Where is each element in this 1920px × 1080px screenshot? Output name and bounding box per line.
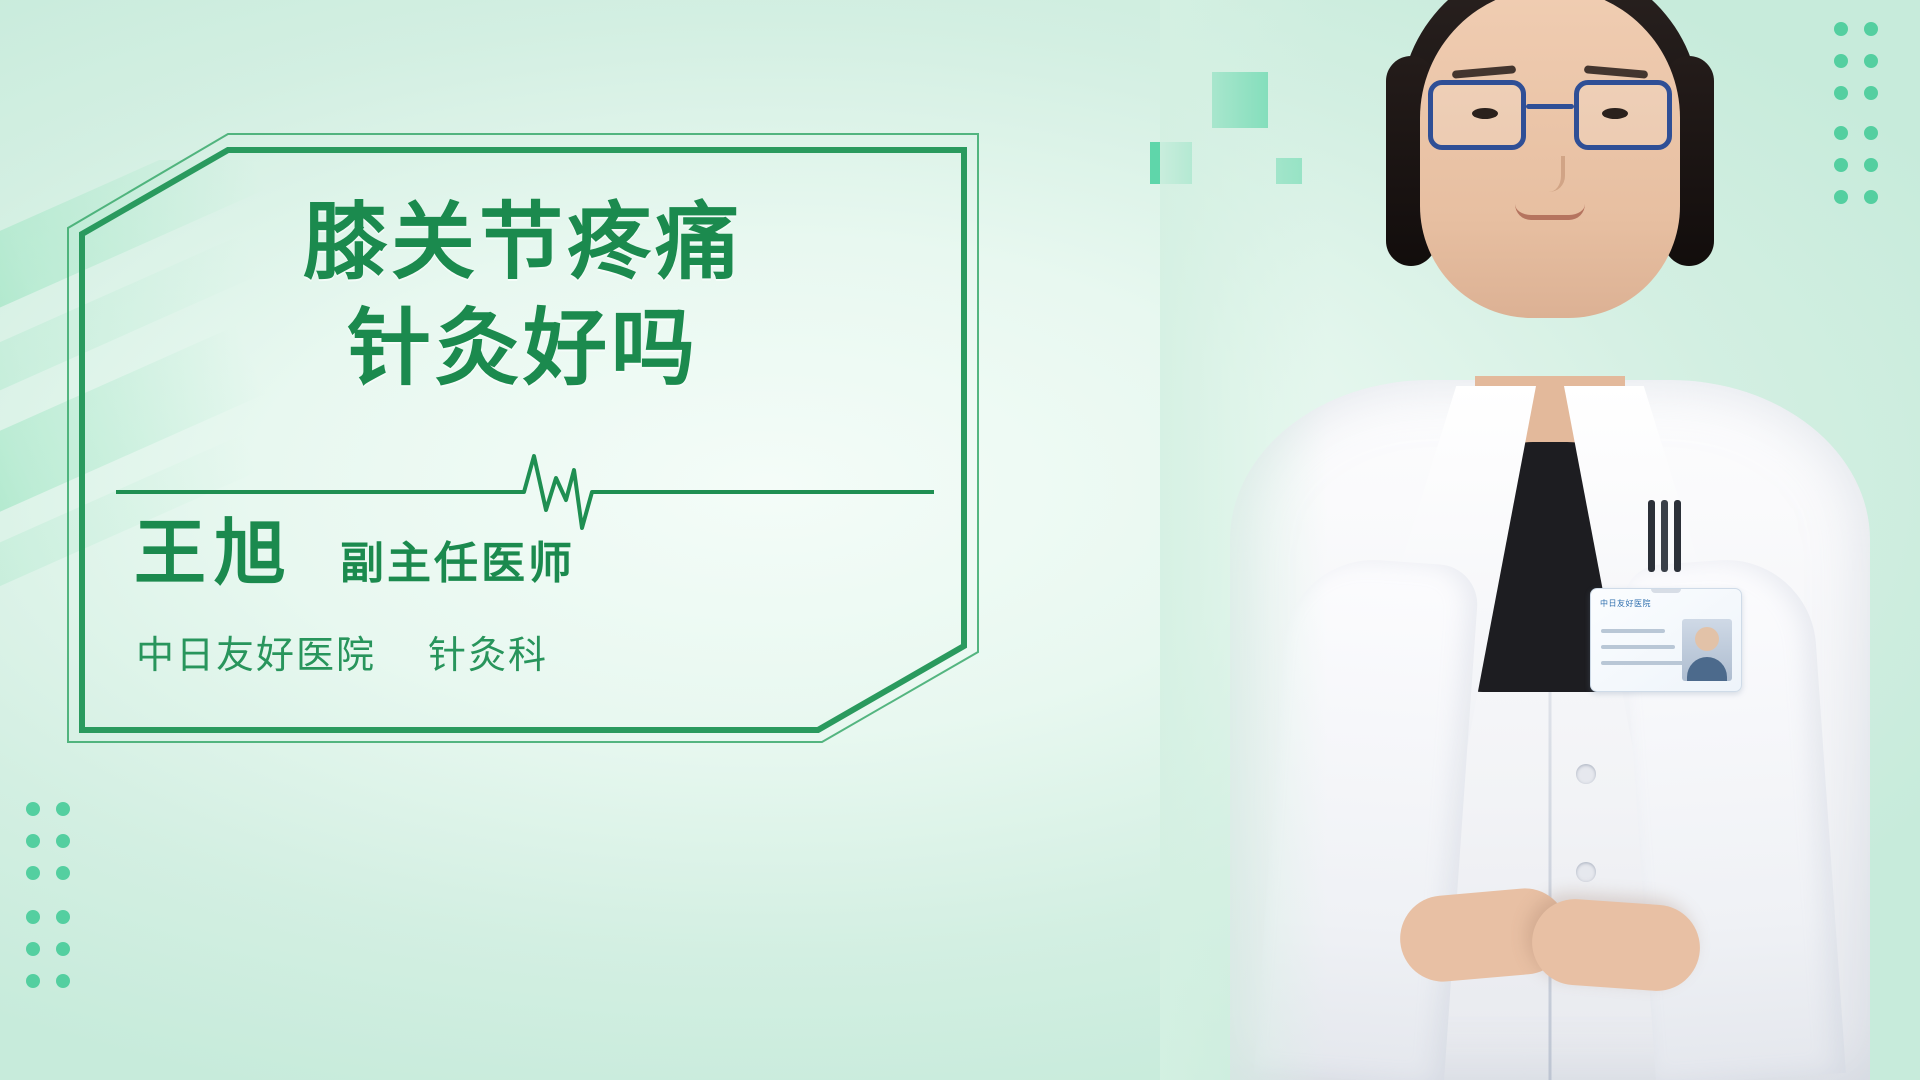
eye-left bbox=[1472, 108, 1498, 119]
hand-right bbox=[1529, 896, 1703, 994]
dot-grid-bottom-left-lower bbox=[26, 910, 70, 988]
doctor-identity-row: 王旭 副主任医师 bbox=[134, 518, 575, 590]
id-badge: 中日友好医院 bbox=[1590, 588, 1742, 692]
glasses bbox=[1428, 80, 1672, 154]
hospital-name: 中日友好医院 bbox=[136, 624, 376, 679]
page-title: 膝关节疼痛 针灸好吗 bbox=[78, 190, 968, 402]
mouth bbox=[1515, 204, 1585, 220]
coat-button bbox=[1576, 862, 1596, 882]
title-line-1: 膝关节疼痛 bbox=[303, 195, 743, 289]
hospital-department-row: 中日友好医院 针灸科 bbox=[136, 624, 548, 679]
doctor-title: 副主任医师 bbox=[340, 542, 575, 586]
glasses-bridge bbox=[1526, 104, 1574, 109]
doctor-name: 王旭 bbox=[134, 518, 294, 590]
card-text-content: 膝关节疼痛 针灸好吗 王旭 副主任医师 中日友好医院 针灸科 bbox=[78, 146, 968, 734]
title-line-2: 针灸好吗 bbox=[78, 296, 968, 402]
badge-hospital-logo: 中日友好医院 bbox=[1600, 598, 1651, 609]
thumbnail-card: 膝关节疼痛 针灸好吗 王旭 副主任医师 中日友好医院 针灸科 bbox=[0, 0, 1920, 1080]
badge-text-line bbox=[1601, 629, 1665, 633]
pen bbox=[1648, 500, 1655, 572]
crossed-hands bbox=[1400, 892, 1700, 984]
badge-clip bbox=[1651, 588, 1681, 593]
badge-text-line bbox=[1601, 661, 1687, 665]
pen bbox=[1674, 500, 1681, 572]
white-coat bbox=[1230, 380, 1870, 1080]
dot-grid-bottom-left-upper bbox=[26, 802, 70, 880]
department-name: 针灸科 bbox=[428, 624, 548, 679]
pen bbox=[1661, 500, 1668, 572]
pocket-pens bbox=[1648, 500, 1694, 576]
nose bbox=[1535, 156, 1565, 192]
eye-right bbox=[1602, 108, 1628, 119]
badge-text-line bbox=[1601, 645, 1675, 649]
arm-left bbox=[1254, 554, 1480, 1080]
doctor-portrait: 中日友好医院 bbox=[1160, 0, 1920, 1080]
badge-photo bbox=[1682, 619, 1732, 681]
coat-button bbox=[1576, 764, 1596, 784]
